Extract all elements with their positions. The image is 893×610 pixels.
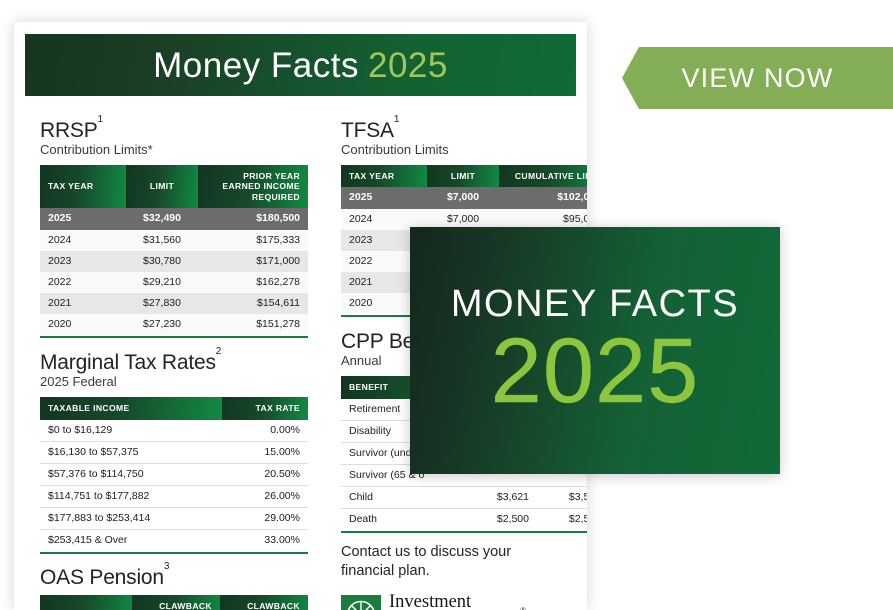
cell-value: $3,529 (537, 487, 587, 509)
table-row: 2024 $31,560 $175,333 (40, 230, 308, 251)
cell-limit: $31,560 (126, 230, 198, 251)
cell-year: 2022 (40, 272, 126, 293)
marginal-title: Marginal Tax Rates2 (40, 352, 308, 374)
cell-year: 2020 (40, 314, 126, 335)
table-row: $0 to $16,129 0.00% (40, 420, 308, 442)
section-marginal-tax-rates: Marginal Tax Rates2 2025 Federal TAXABLE… (40, 352, 308, 554)
table-row: 2025 $32,490 $180,500 (40, 208, 308, 229)
cell-required: $180,500 (198, 208, 308, 229)
col-header: LIMIT (126, 165, 198, 208)
promo-title: MONEY FACTS (451, 285, 739, 323)
cell-income: $177,883 to $253,414 (40, 508, 222, 530)
cell-rate: 26.00% (222, 486, 308, 508)
cell-required: $171,000 (198, 251, 308, 272)
cell-rate: 20.50% (222, 463, 308, 485)
col-header: CLAWBACK STARTS @ NET INCOME OF: (132, 595, 220, 610)
cell-benefit: Child (341, 487, 465, 509)
table-row: 2020 $27,230 $151,278 (40, 314, 308, 335)
cell-income: $16,130 to $57,375 (40, 441, 222, 463)
table-row: 2021 $27,830 $154,611 (40, 293, 308, 314)
table-footer-rule (341, 531, 587, 533)
col-header: TAX RATE (222, 397, 308, 419)
table-row: 2025 $7,000 $102,000 (341, 187, 587, 208)
table-row: Child $3,621 $3,529 (341, 487, 587, 509)
view-now-button[interactable]: VIEW NOW (622, 47, 893, 109)
table-header-row: MAX PENSION @ JAN 2025 CLAWBACK STARTS @… (40, 595, 308, 610)
oas-title: OAS Pension3 (40, 567, 308, 589)
cell-year: 2024 (40, 230, 126, 251)
cell-income: $0 to $16,129 (40, 420, 222, 442)
cell-required: $151,278 (198, 314, 308, 335)
table-header-row: TAX YEAR LIMIT PRIOR YEAR EARNED INCOME … (40, 165, 308, 208)
company-logo: Investment Planning Counsel® (341, 593, 587, 610)
table-header-row: TAX YEAR LIMIT CUMULATIVE LIMIT (341, 165, 587, 187)
cell-income: $253,415 & Over (40, 530, 222, 552)
cell-benefit: Death (341, 509, 465, 531)
cell-year: 2021 (40, 293, 126, 314)
cell-value: $2,500 (537, 509, 587, 531)
rrsp-title: RRSP1 (40, 120, 308, 142)
col-header: TAX YEAR (341, 165, 427, 187)
cell-required: $162,278 (198, 272, 308, 293)
cell-limit: $32,490 (126, 208, 198, 229)
table-row: 2022 $29,210 $162,278 (40, 272, 308, 293)
logo-line1: Investment (389, 592, 471, 610)
cell-limit: $27,830 (126, 293, 198, 314)
masthead-year: 2025 (368, 46, 448, 85)
cell-rate: 15.00% (222, 441, 308, 463)
table-row: $114,751 to $177,882 26.00% (40, 486, 308, 508)
table-row: $57,376 to $114,750 20.50% (40, 463, 308, 485)
cell-limit: $29,210 (126, 272, 198, 293)
cell-income: $114,751 to $177,882 (40, 486, 222, 508)
masthead-title: Money Facts (153, 46, 359, 85)
col-header: LIMIT (427, 165, 499, 187)
cell-limit: $27,230 (126, 314, 198, 335)
cell-year: 2025 (341, 187, 427, 208)
left-column: RRSP1 Contribution Limits* TAX YEAR LIMI… (40, 120, 308, 610)
ipc-wheel-icon (341, 595, 381, 610)
logo-wordmark: Investment Planning Counsel® (389, 593, 587, 610)
table-row: $253,415 & Over 33.00% (40, 530, 308, 552)
money-facts-promo-card[interactable]: MONEY FACTS 2025 (410, 227, 780, 474)
cell-value: $2,500 (465, 509, 537, 531)
cell-income: $57,376 to $114,750 (40, 463, 222, 485)
registered-mark: ® (520, 606, 526, 610)
tfsa-subtitle: Contribution Limits (341, 143, 587, 158)
contact-lead: Contact us to discuss your financial pla… (341, 543, 587, 580)
table-row: $16,130 to $57,375 15.00% (40, 441, 308, 463)
cell-cumulative: $102,000 (499, 187, 587, 208)
col-header: TAXABLE INCOME (40, 397, 222, 419)
contact-lead-line1: Contact us to discuss your (341, 544, 511, 560)
cell-required: $175,333 (198, 230, 308, 251)
col-header: TAX YEAR (40, 165, 126, 208)
col-header: MAX PENSION @ JAN 2025 (40, 595, 132, 610)
contact-lead-line2: financial plan. (341, 563, 430, 579)
contact-block: Contact us to discuss your financial pla… (341, 543, 587, 610)
cell-year: 2023 (40, 251, 126, 272)
cell-limit: $7,000 (427, 187, 499, 208)
table-row: Death $2,500 $2,500 (341, 509, 587, 531)
promo-year: 2025 (491, 327, 700, 415)
oas-table: MAX PENSION @ JAN 2025 CLAWBACK STARTS @… (40, 595, 308, 610)
section-rrsp: RRSP1 Contribution Limits* TAX YEAR LIMI… (40, 120, 308, 338)
cell-limit: $30,780 (126, 251, 198, 272)
tfsa-title: TFSA1 (341, 120, 587, 142)
rrsp-subtitle: Contribution Limits* (40, 143, 308, 158)
table-row: 2023 $30,780 $171,000 (40, 251, 308, 272)
cell-required: $154,611 (198, 293, 308, 314)
cell-rate: 33.00% (222, 530, 308, 552)
marginal-tax-table: TAXABLE INCOME TAX RATE $0 to $16,129 0.… (40, 397, 308, 551)
rrsp-table: TAX YEAR LIMIT PRIOR YEAR EARNED INCOME … (40, 165, 308, 335)
cell-rate: 29.00% (222, 508, 308, 530)
table-header-row: TAXABLE INCOME TAX RATE (40, 397, 308, 419)
table-footer-rule (40, 336, 308, 338)
cell-year: 2025 (40, 208, 126, 229)
col-header: PRIOR YEAR EARNED INCOME REQUIRED (198, 165, 308, 208)
view-now-label: VIEW NOW (681, 63, 833, 94)
table-row: $177,883 to $253,414 29.00% (40, 508, 308, 530)
screenshot-root: VIEW NOW Money Facts2025 RRSP1 Contribut… (0, 0, 893, 610)
cell-value: $3,621 (465, 487, 537, 509)
cell-rate: 0.00% (222, 420, 308, 442)
masthead: Money Facts2025 (25, 34, 576, 96)
marginal-subtitle: 2025 Federal (40, 375, 308, 390)
col-header: CLAWBACK ENDS @ NET INCOME OF: (220, 595, 308, 610)
table-footer-rule (40, 552, 308, 554)
section-oas-pension: OAS Pension3 MAX PENSION @ JAN 2025 CLAW… (40, 567, 308, 610)
col-header: CUMULATIVE LIMIT (499, 165, 587, 187)
